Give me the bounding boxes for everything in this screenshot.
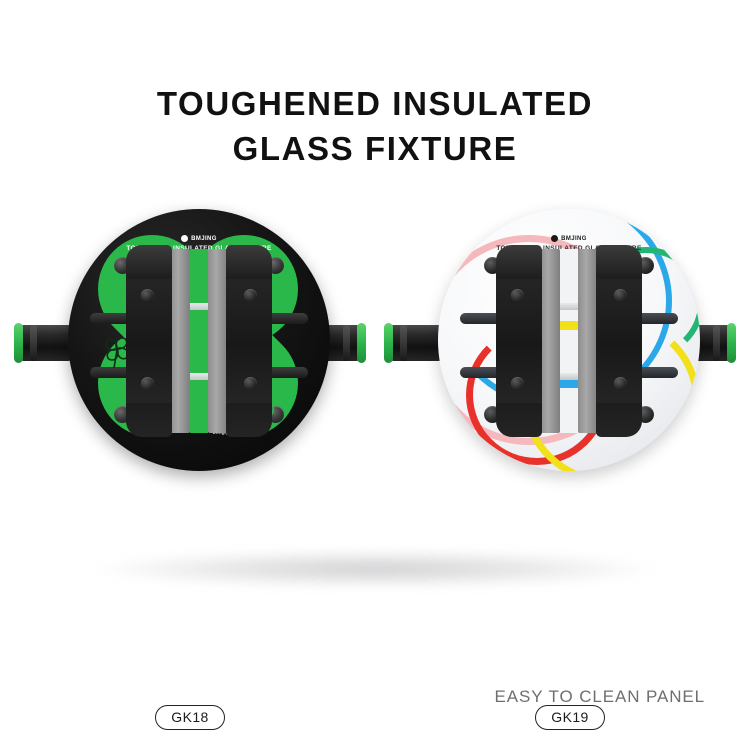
handle-end-cap bbox=[14, 323, 23, 363]
clamp-rail-left bbox=[170, 249, 190, 433]
clamp-band-yellow bbox=[560, 321, 578, 330]
jaw-screw bbox=[141, 289, 154, 302]
headline-line-2: GLASS FIXTURE bbox=[0, 127, 750, 172]
caption-gk19: GK19 bbox=[520, 705, 620, 730]
jaw-screw bbox=[244, 377, 257, 390]
clamp-pin bbox=[190, 373, 208, 380]
handle-left[interactable] bbox=[388, 325, 444, 361]
caption-pill: GK18 bbox=[155, 705, 224, 730]
ground-shadow bbox=[95, 550, 655, 588]
clamp-pin bbox=[560, 373, 578, 380]
handle-end-cap bbox=[384, 323, 393, 363]
jaw-screw bbox=[141, 377, 154, 390]
handle-end-cap bbox=[357, 323, 366, 363]
brand-logo: BMJING bbox=[68, 235, 330, 242]
jaw-screw bbox=[511, 377, 524, 390]
caption-pill: GK19 bbox=[535, 705, 604, 730]
clamp-rail-left bbox=[540, 249, 560, 433]
caption-gk18: GK18 bbox=[140, 705, 240, 730]
brand-name: BMJING bbox=[191, 236, 217, 242]
clamp-rail-right bbox=[578, 249, 598, 433]
clamp-jaw-left[interactable] bbox=[126, 245, 172, 437]
handle-end-cap bbox=[727, 323, 736, 363]
handle-ring bbox=[400, 325, 407, 361]
clamp-center-gap bbox=[190, 249, 208, 433]
headline-line-1: TOUGHENED INSULATED bbox=[157, 85, 593, 122]
footer-note: EASY TO CLEAN PANEL bbox=[495, 687, 705, 707]
clamp-center-gap bbox=[560, 249, 578, 433]
jaw-screw bbox=[511, 289, 524, 302]
product-gk18[interactable]: BMJING TOUGHENED INSULATED GLASS FIXTURE… bbox=[10, 195, 370, 515]
jaw-screw bbox=[244, 289, 257, 302]
clamp-rail-right bbox=[208, 249, 228, 433]
brand-mark-icon bbox=[181, 235, 188, 242]
clamp-pin bbox=[560, 303, 578, 310]
clamp-pin bbox=[190, 303, 208, 310]
handle-ring bbox=[343, 325, 350, 361]
clamp-jaw-right[interactable] bbox=[596, 245, 642, 437]
jaw-screw bbox=[614, 377, 627, 390]
product-stage: BMJING TOUGHENED INSULATED GLASS FIXTURE… bbox=[0, 195, 750, 555]
clamp-assembly-gk18[interactable] bbox=[126, 245, 272, 437]
clamp-jaw-left[interactable] bbox=[496, 245, 542, 437]
handle-ring bbox=[713, 325, 720, 361]
jaw-screw bbox=[614, 289, 627, 302]
handle-left[interactable] bbox=[18, 325, 74, 361]
clamp-assembly-gk19[interactable] bbox=[496, 245, 642, 437]
clamp-band-blue bbox=[560, 379, 578, 388]
product-gk19[interactable]: BMJING TOUGHENED INSULATED GLASS FIXTURE… bbox=[380, 195, 740, 515]
page-title: TOUGHENED INSULATED GLASS FIXTURE bbox=[0, 82, 750, 172]
handle-ring bbox=[30, 325, 37, 361]
clamp-jaw-right[interactable] bbox=[226, 245, 272, 437]
